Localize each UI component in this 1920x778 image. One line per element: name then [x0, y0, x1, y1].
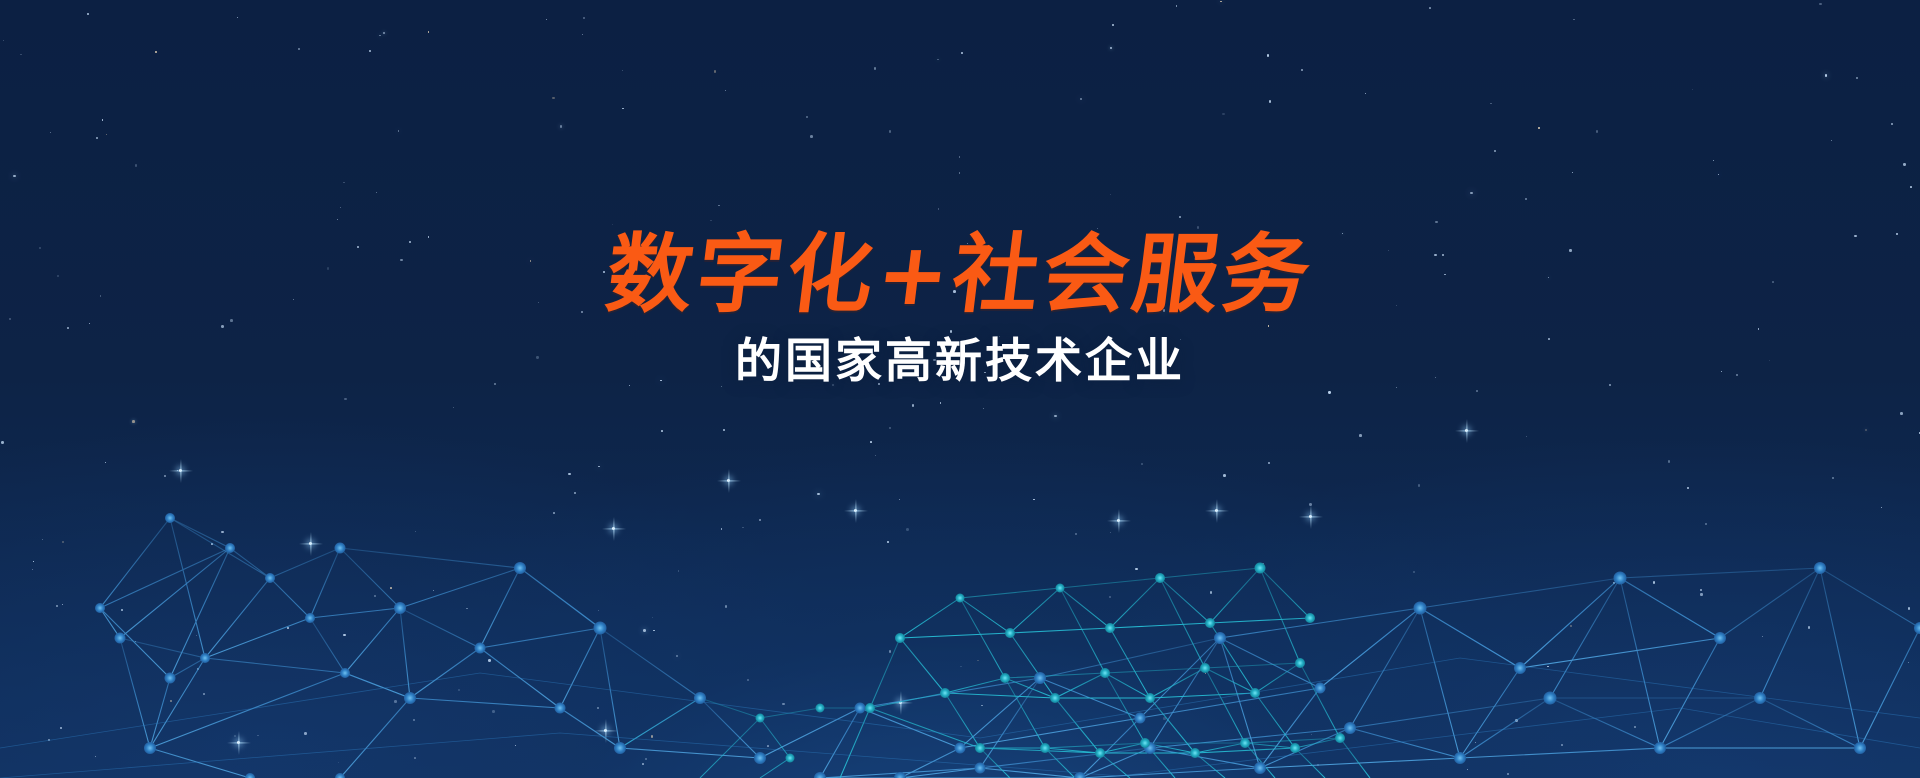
star-dot	[1429, 7, 1431, 9]
star-dot	[96, 137, 98, 139]
star-dot	[1490, 103, 1492, 105]
star-dot	[340, 207, 341, 208]
banner-copy: 数字化+社会服务 的国家高新技术企业	[0, 232, 1920, 388]
star-dot	[20, 54, 22, 56]
banner-headline: 数字化+社会服务	[602, 232, 1319, 318]
star-dot	[714, 70, 716, 72]
star-dot	[1470, 192, 1473, 195]
star-dot	[1179, 216, 1181, 218]
star-dot	[1110, 47, 1111, 48]
star-dot	[135, 164, 138, 167]
star-dot	[1831, 140, 1832, 141]
star-dot	[1269, 100, 1271, 102]
star-dot	[337, 219, 338, 220]
star-dot	[937, 59, 939, 61]
star-dot	[1525, 198, 1527, 200]
star-dot	[1538, 127, 1540, 129]
star-dot	[237, 17, 238, 18]
star-dot	[1301, 69, 1303, 71]
star-dot	[710, 220, 712, 222]
star-dot	[13, 175, 16, 178]
star-dot	[369, 50, 371, 52]
star-dot	[379, 35, 381, 37]
star-dot	[622, 108, 624, 110]
star-dot	[106, 134, 107, 135]
star-dot	[810, 135, 813, 138]
star-dot	[552, 97, 555, 100]
star-dot	[1713, 160, 1714, 161]
star-dot	[582, 34, 583, 35]
star-dot	[1572, 172, 1573, 173]
star-dot	[383, 32, 385, 34]
star-dot	[1110, 194, 1111, 195]
star-dot	[1856, 77, 1858, 79]
star-dot	[1267, 54, 1270, 57]
star-dot	[87, 13, 89, 15]
star-dot	[398, 130, 400, 132]
star-dot	[1112, 24, 1114, 26]
star-dot	[874, 67, 876, 69]
star-dot	[1494, 150, 1497, 153]
banner-subline: 的国家高新技术企业	[0, 336, 1920, 388]
star-dot	[560, 125, 562, 127]
star-dot	[1220, 1, 1222, 3]
star-dot	[155, 51, 157, 53]
star-dot	[1692, 89, 1693, 90]
star-dot	[50, 132, 51, 133]
star-dot	[1596, 130, 1598, 132]
star-dot	[343, 182, 344, 183]
star-dot	[298, 48, 300, 50]
star-dot	[959, 172, 960, 173]
star-dot	[1435, 221, 1438, 224]
star-dot	[1176, 5, 1177, 6]
star-dot	[1903, 163, 1905, 165]
star-dot	[1222, 113, 1224, 115]
star-dot	[1819, 3, 1822, 6]
star-dot	[102, 119, 104, 121]
star-dot	[938, 208, 939, 209]
star-dot	[3, 40, 4, 41]
star-dot	[546, 19, 547, 20]
star-dot	[376, 192, 377, 193]
star-dot	[428, 31, 430, 33]
star-dot	[725, 90, 726, 91]
hero-banner: 数字化+社会服务 的国家高新技术企业	[0, 0, 1920, 778]
star-dot	[1718, 174, 1719, 175]
star-dot	[1891, 123, 1893, 125]
star-dot	[806, 116, 808, 118]
star-dot	[622, 70, 623, 71]
star-dot	[1080, 98, 1082, 100]
star-dot	[718, 205, 720, 207]
star-dot	[1825, 74, 1827, 76]
star-dot	[961, 52, 963, 54]
star-dot	[959, 156, 961, 158]
star-dot	[1365, 93, 1366, 94]
star-dot	[1910, 186, 1912, 188]
star-dot	[1573, 19, 1574, 20]
star-dot	[889, 130, 891, 132]
star-dot	[583, 17, 585, 19]
